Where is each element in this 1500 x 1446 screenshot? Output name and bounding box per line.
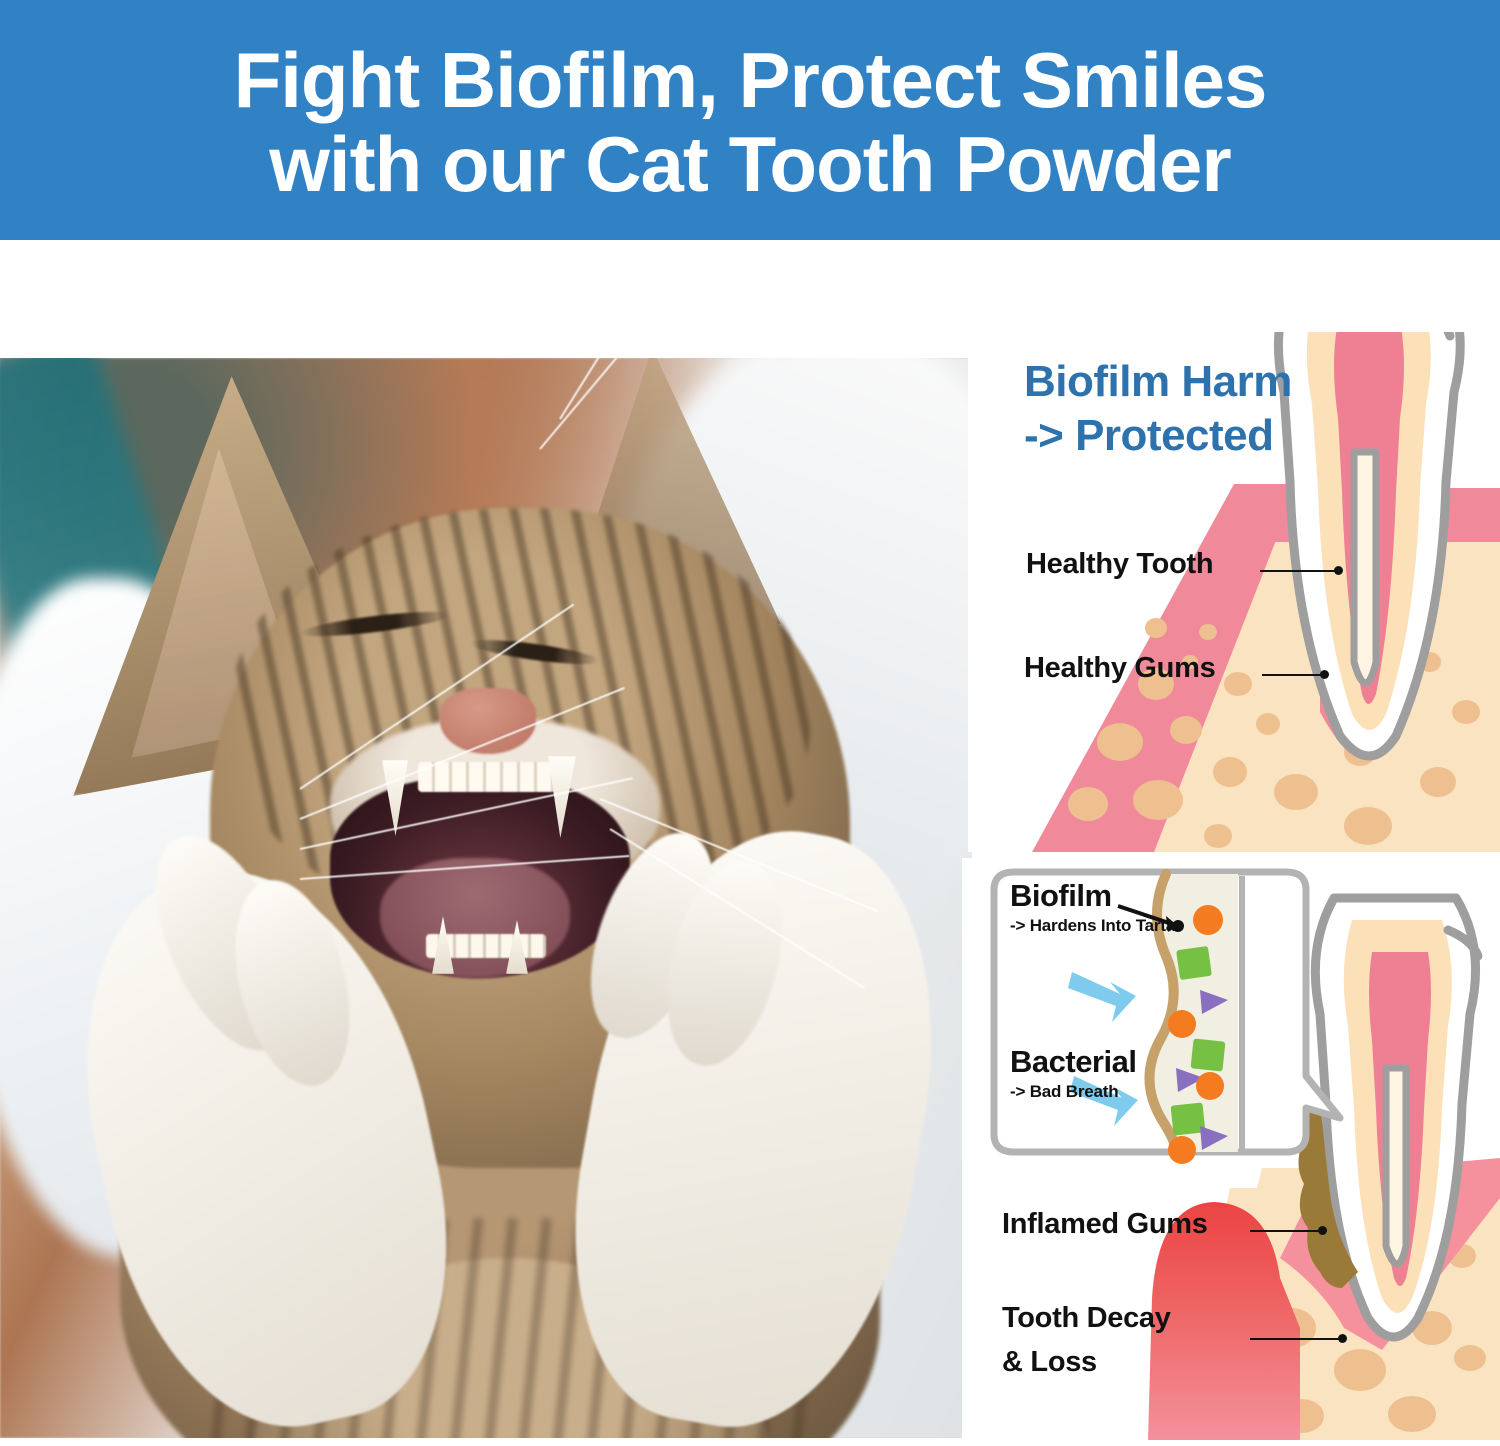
leader-dot-healthy-gums (1320, 670, 1329, 679)
leader-line-healthy-tooth (1260, 570, 1338, 572)
label-tooth-decay: Tooth Decay (1002, 1302, 1171, 1335)
label-tooth-loss: & Loss (1002, 1346, 1097, 1379)
healthy-tooth-diagram-panel: Biofilm Harm -> Protected Healthy Tooth … (968, 332, 1500, 852)
label-inflamed-gums: Inflamed Gums (1002, 1208, 1208, 1241)
leader-line-tooth-decay (1250, 1338, 1342, 1340)
leader-line-inflamed-gums (1250, 1230, 1322, 1232)
leader-dot-healthy-tooth (1334, 566, 1343, 575)
banner-title-line-1: Fight Biofilm, Protect Smiles (234, 38, 1267, 122)
diagram-heading-line-1: Biofilm Harm (1024, 356, 1292, 408)
diseased-tooth-diagram-panel: Biofilm -> Hardens Into Tartar Bacterial… (962, 858, 1500, 1440)
header-banner: Fight Biofilm, Protect Smiles with our C… (0, 0, 1500, 240)
callout-sub-bacterial: -> Bad Breath (1010, 1082, 1118, 1102)
callout-title-biofilm: Biofilm (1010, 878, 1112, 914)
banner-title-line-2: with our Cat Tooth Powder (269, 122, 1230, 206)
label-healthy-gums: Healthy Gums (1024, 652, 1215, 685)
cat-tongue (380, 858, 570, 978)
cat-dental-exam-photo (0, 358, 972, 1438)
label-healthy-tooth: Healthy Tooth (1026, 548, 1213, 581)
leader-dot-inflamed-gums (1318, 1226, 1327, 1235)
cat-upper-teeth (418, 762, 568, 792)
diagram-heading-line-2: -> Protected (1024, 410, 1274, 462)
callout-sub-biofilm: -> Hardens Into Tartar (1010, 916, 1181, 936)
leader-line-healthy-gums (1262, 674, 1324, 676)
callout-title-bacterial: Bacterial (1010, 1044, 1136, 1080)
leader-dot-tooth-decay (1338, 1334, 1347, 1343)
